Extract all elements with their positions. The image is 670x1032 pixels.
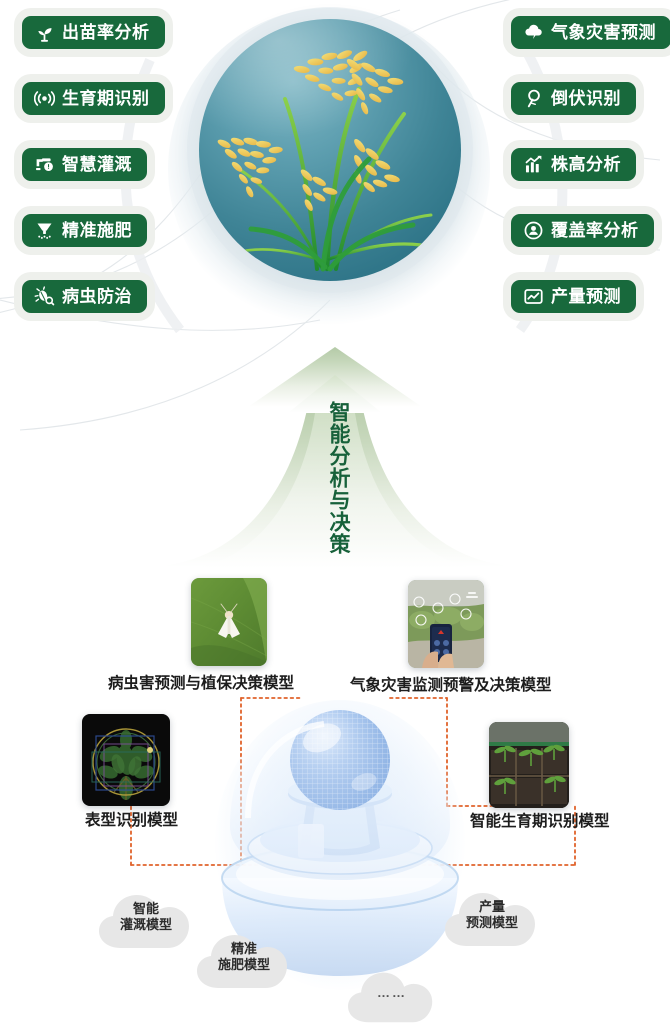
line-chart-icon bbox=[523, 286, 544, 307]
button-label: 出苗率分析 bbox=[62, 24, 150, 41]
cloud-line-2: 预测模型 bbox=[466, 915, 518, 931]
cloud-text: 精准 施肥模型 bbox=[195, 930, 293, 992]
button-yield-forecast[interactable]: 产量预测 bbox=[511, 280, 636, 313]
thumbnail-pest-model bbox=[191, 578, 267, 666]
model-label-phenotype: 表型识别模型 bbox=[85, 813, 178, 829]
button-emergence-rate-analysis[interactable]: 出苗率分析 bbox=[22, 16, 165, 49]
rice-plant-illustration bbox=[199, 19, 461, 281]
button-meteorological-disaster-forecast[interactable]: 气象灾害预测 bbox=[511, 16, 670, 49]
button-smart-irrigation[interactable]: 智慧灌溉 bbox=[22, 148, 147, 181]
signal-wave-icon bbox=[34, 88, 55, 109]
smart-farm-phone-app-photo bbox=[408, 580, 484, 668]
button-pest-control[interactable]: 病虫防治 bbox=[22, 280, 147, 313]
button-label: 病虫防治 bbox=[62, 288, 132, 305]
model-label-pest: 病虫害预测与植保决策模型 bbox=[108, 676, 294, 692]
cloud-smart-irrigation-model: 智能 灌溉模型 bbox=[97, 890, 195, 952]
cloud-line-1: …… bbox=[377, 985, 407, 1001]
cloud-yield-forecast-model: 产量 预测模型 bbox=[443, 888, 541, 950]
cloud-line-2: 灌溉模型 bbox=[120, 917, 172, 933]
cloud-text: 智能 灌溉模型 bbox=[97, 890, 195, 952]
cloud-text: …… bbox=[346, 968, 438, 1026]
cloud-line-1: 精准 bbox=[231, 941, 257, 957]
cloud-line-1: 智能 bbox=[133, 901, 159, 917]
hero-circle bbox=[199, 19, 461, 281]
button-label: 气象灾害预测 bbox=[551, 24, 656, 41]
arrow-label: 智能分析与决策 bbox=[317, 398, 351, 558]
seedling-tray-photo bbox=[489, 722, 569, 808]
infographic-root: 出苗率分析 生育期识别 智慧灌溉 精准施肥 bbox=[0, 0, 670, 1032]
coverage-target-icon bbox=[523, 220, 544, 241]
cloud-lightning-icon bbox=[523, 22, 544, 43]
cloud-line-1: 产量 bbox=[479, 899, 505, 915]
seedling-icon bbox=[34, 22, 55, 43]
button-precision-fertilization[interactable]: 精准施肥 bbox=[22, 214, 147, 247]
cloud-text: 产量 预测模型 bbox=[443, 888, 541, 950]
button-label: 覆盖率分析 bbox=[551, 222, 639, 239]
button-lodging-recognition[interactable]: 倒伏识别 bbox=[511, 82, 636, 115]
plant-phenotype-detection-photo bbox=[82, 714, 170, 806]
white-moth-on-leaf-photo bbox=[191, 578, 267, 666]
button-label: 株高分析 bbox=[551, 156, 621, 173]
cloud-more-models: …… bbox=[346, 968, 438, 1026]
button-coverage-rate-analysis[interactable]: 覆盖率分析 bbox=[511, 214, 654, 247]
button-label: 生育期识别 bbox=[62, 90, 150, 107]
button-growth-stage-recognition[interactable]: 生育期识别 bbox=[22, 82, 165, 115]
thumbnail-weather-model bbox=[408, 580, 484, 668]
thumbnail-phenotype-model bbox=[82, 714, 170, 806]
cloud-line-2: 施肥模型 bbox=[218, 957, 270, 973]
bar-chart-up-icon bbox=[523, 154, 544, 175]
model-label-weather: 气象灾害监测预警及决策模型 bbox=[350, 678, 552, 694]
fertilizer-spreader-icon bbox=[34, 220, 55, 241]
button-label: 智慧灌溉 bbox=[62, 156, 132, 173]
lodging-plant-icon bbox=[523, 88, 544, 109]
button-label: 产量预测 bbox=[551, 288, 621, 305]
cloud-precision-fertilization-model: 精准 施肥模型 bbox=[195, 930, 293, 992]
button-label: 精准施肥 bbox=[62, 222, 132, 239]
button-plant-height-analysis[interactable]: 株高分析 bbox=[511, 148, 636, 181]
pest-insect-icon bbox=[34, 286, 55, 307]
faucet-drop-icon bbox=[34, 154, 55, 175]
model-label-growth-stage: 智能生育期识别模型 bbox=[470, 814, 610, 830]
thumbnail-growth-stage-model bbox=[489, 722, 569, 808]
button-label: 倒伏识别 bbox=[551, 90, 621, 107]
